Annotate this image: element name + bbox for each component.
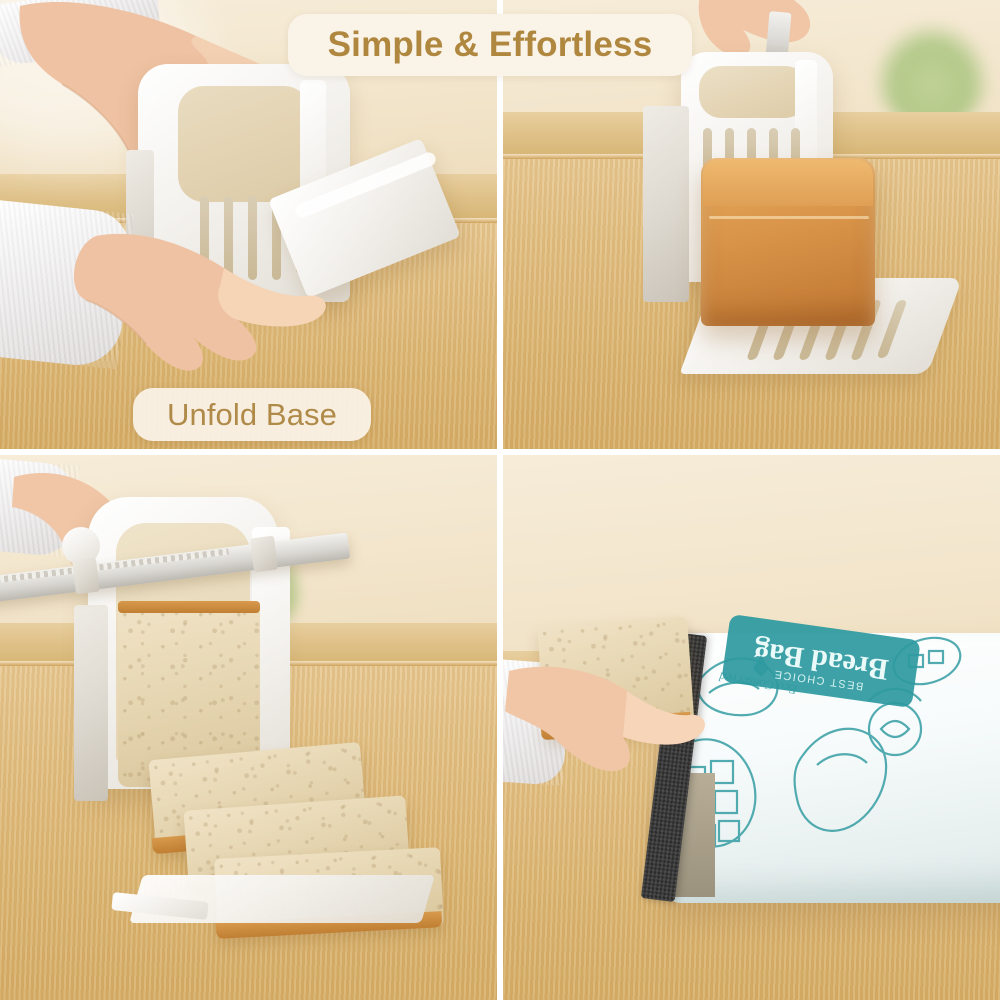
loaf-seam xyxy=(709,216,869,219)
scene-pack-freshness: Bread Bag BEST CHOICE Eco Conserved xyxy=(503,455,1000,1000)
slicer-handle-cutout xyxy=(699,66,807,118)
caption-text: Unfold Base xyxy=(167,397,337,433)
title-pill: Simple & Effortless xyxy=(288,14,692,76)
loaf-crown xyxy=(703,160,873,206)
loaf-top-crust xyxy=(118,601,260,613)
knife-guide-clamp-right xyxy=(250,536,278,573)
page-title: Simple & Effortless xyxy=(328,25,653,65)
panel-pack-freshness: Bread Bag BEST CHOICE Eco Conserved xyxy=(503,455,1000,1000)
panel-slice-thickness: Slice to Thickness xyxy=(0,455,497,1000)
slicer-left-wing xyxy=(643,106,689,302)
hand-packing-bread xyxy=(503,455,1000,1000)
horizontal-divider xyxy=(0,449,1000,455)
scene-slice-thickness xyxy=(0,455,497,1000)
caption-pill-unfold-base: Unfold Base xyxy=(133,388,371,441)
vertical-divider xyxy=(497,0,503,1000)
infographic-canvas: Unfold Base xyxy=(0,0,1000,1000)
knife-guide-clamp-left xyxy=(72,558,100,595)
slicer-left-post xyxy=(74,605,108,801)
